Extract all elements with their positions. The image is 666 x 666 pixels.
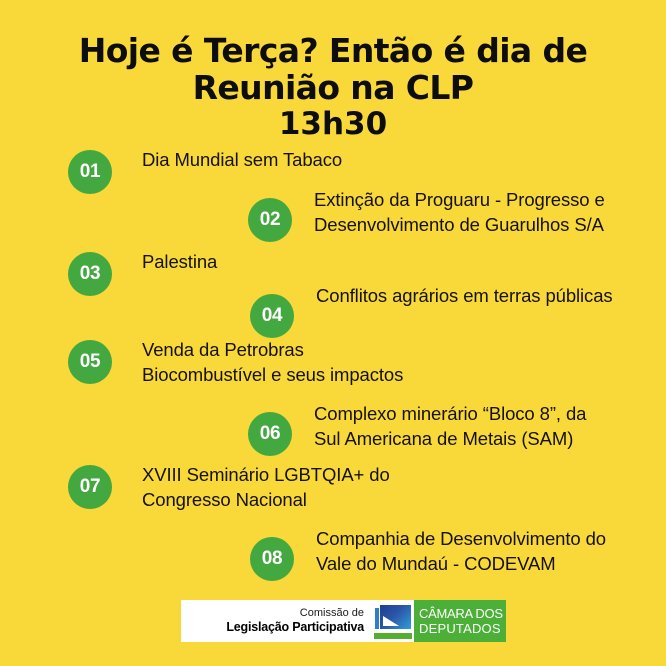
page-title: Hoje é Terça? Então é dia de Reunião na … xyxy=(0,32,666,143)
agenda-item-04: 04 Conflitos agrários em terras públicas xyxy=(250,286,613,338)
agenda-text-03: Palestina xyxy=(142,249,217,274)
commission-name: Comissão de Legislação Participativa xyxy=(181,600,370,642)
agenda-item-03: 03 Palestina xyxy=(68,252,217,296)
agenda-item-02: 02 Extinção da Proguaru - Progresso e De… xyxy=(248,190,605,242)
agenda-badge-03: 03 xyxy=(68,252,112,296)
agenda-badge-08: 08 xyxy=(250,537,294,581)
agenda-text-05: Venda da Petrobras Biocombustível e seus… xyxy=(142,337,403,387)
agenda-item-07: 07 XVIII Seminário LGBTQIA+ do Congresso… xyxy=(68,465,390,512)
agenda-text-08: Companhia de Desenvolvimento do Vale do … xyxy=(316,526,606,576)
agenda-item-01: 01 Dia Mundial sem Tabaco xyxy=(68,150,342,194)
title-line-1: Hoje é Terça? Então é dia de xyxy=(40,32,626,69)
agenda-text-07: XVIII Seminário LGBTQIA+ do Congresso Na… xyxy=(142,462,390,512)
agenda-item-05: 05 Venda da Petrobras Biocombustível e s… xyxy=(68,340,403,387)
camara-deputados-logo-icon xyxy=(370,600,414,642)
agenda-badge-06: 06 xyxy=(248,412,292,456)
title-line-3-time: 13h30 xyxy=(40,106,626,143)
agenda-item-06: 06 Complexo minerário “Bloco 8”, da Sul … xyxy=(248,404,586,456)
agenda-badge-02: 02 xyxy=(248,198,292,242)
agenda-badge-04: 04 xyxy=(250,294,294,338)
agenda-item-08: 08 Companhia de Desenvolvimento do Vale … xyxy=(250,529,606,581)
title-line-2: Reunião na CLP xyxy=(40,69,626,106)
logo-green-base-bar xyxy=(374,633,412,639)
institution-line-1: CÂMARA DOS xyxy=(419,606,506,621)
agenda-badge-07: 07 xyxy=(68,465,112,509)
logo-vertical-bar xyxy=(375,608,379,629)
agenda-text-06: Complexo minerário “Bloco 8”, da Sul Ame… xyxy=(314,401,586,451)
agenda-badge-05: 05 xyxy=(68,340,112,384)
agenda-text-02: Extinção da Proguaru - Progresso e Desen… xyxy=(314,187,605,237)
poster-canvas: Hoje é Terça? Então é dia de Reunião na … xyxy=(0,0,666,666)
agenda-list: 01 Dia Mundial sem Tabaco 02 Extinção da… xyxy=(0,148,666,588)
footer-logo-bar: Comissão de Legislação Participativa CÂM… xyxy=(181,600,506,642)
institution-name: CÂMARA DOS DEPUTADOS xyxy=(414,600,506,642)
agenda-badge-01: 01 xyxy=(68,150,112,194)
commission-line-1: Comissão de xyxy=(300,607,364,620)
agenda-text-04: Conflitos agrários em terras públicas xyxy=(316,283,613,308)
institution-line-2: DEPUTADOS xyxy=(419,621,506,636)
commission-line-2: Legislação Participativa xyxy=(226,620,364,635)
agenda-text-01: Dia Mundial sem Tabaco xyxy=(142,147,342,172)
